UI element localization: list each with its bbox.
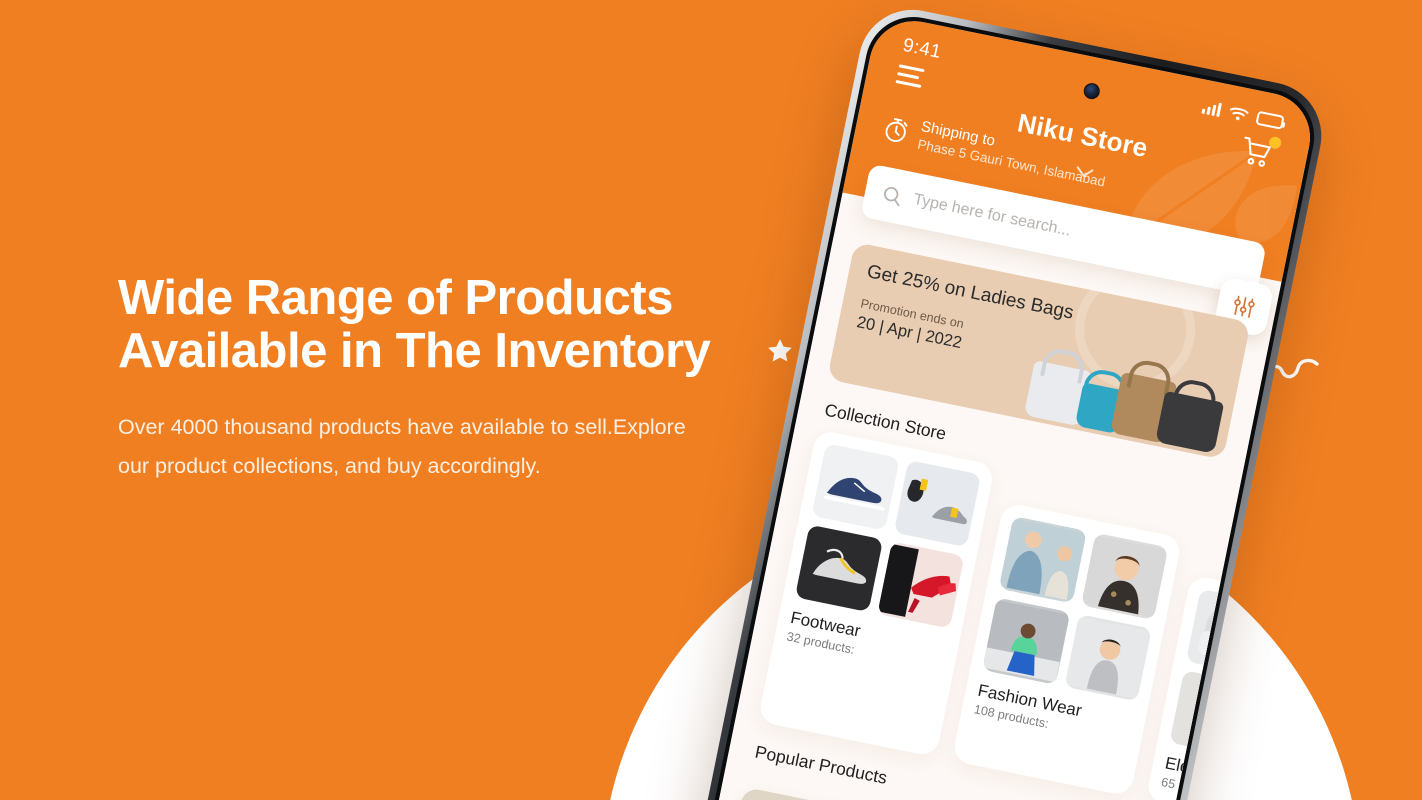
product-thumb bbox=[1064, 614, 1152, 701]
collection-card[interactable]: Fashion Wear 108 products: bbox=[951, 502, 1182, 797]
woman-dress-image bbox=[999, 516, 1087, 603]
white-sneaker-image bbox=[795, 525, 883, 612]
page-title-line2: Available in The Inventory bbox=[118, 324, 710, 378]
collection-thumbs bbox=[795, 443, 981, 628]
product-thumb bbox=[811, 443, 899, 530]
stopwatch-icon bbox=[880, 114, 913, 147]
search-icon bbox=[881, 184, 903, 206]
product-thumb bbox=[1081, 533, 1169, 620]
red-heels-image bbox=[877, 541, 965, 628]
product-thumb bbox=[982, 597, 1070, 684]
product-thumb bbox=[893, 460, 981, 547]
collection-card[interactable]: Footwear 32 products: bbox=[757, 429, 995, 757]
woman-floral-image bbox=[1081, 533, 1169, 620]
collection-thumbs bbox=[982, 516, 1168, 701]
hero-description: Over 4000 thousand products have availab… bbox=[118, 408, 718, 486]
page-title-line1: Wide Range of Products bbox=[118, 271, 673, 325]
product-thumb bbox=[999, 516, 1087, 603]
man-casual-image bbox=[982, 597, 1070, 684]
product-thumb bbox=[795, 525, 883, 612]
product-thumb bbox=[877, 541, 965, 628]
filter-sliders-icon bbox=[1230, 293, 1258, 321]
boy-sweater-image bbox=[1064, 614, 1152, 701]
shoe-pair-image bbox=[893, 460, 981, 547]
star-icon bbox=[766, 337, 794, 365]
app-content: Get 25% on Ladies Bags Promotion ends on… bbox=[704, 238, 1272, 800]
hero-copy: Wide Range of Products Available in The … bbox=[118, 272, 758, 486]
page-title: Wide Range of Products Available in The … bbox=[118, 272, 758, 378]
sneaker-image bbox=[811, 443, 899, 530]
